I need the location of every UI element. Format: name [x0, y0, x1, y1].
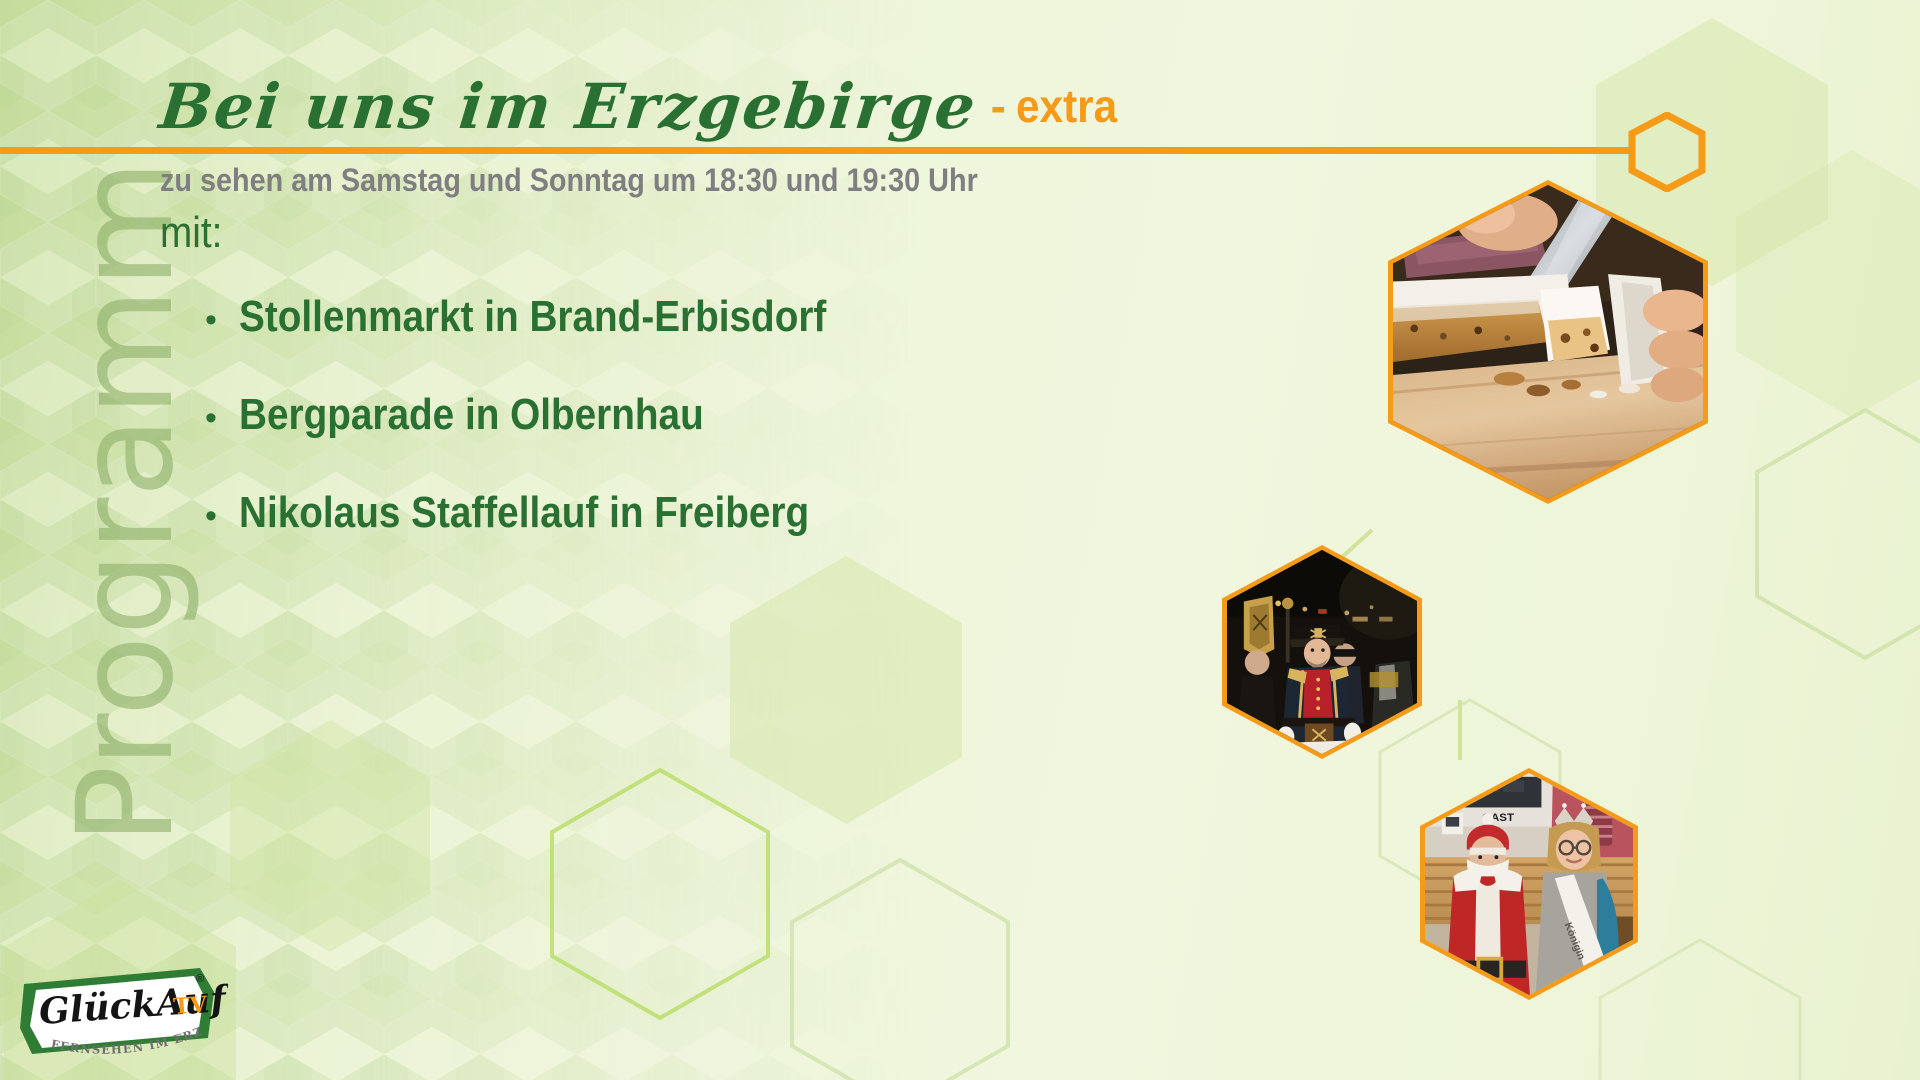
- page-title-dash: -: [991, 83, 1006, 129]
- list-item-label: Nikolaus Staffellauf in Freiberg: [239, 488, 809, 538]
- bergparade-photo: [1222, 545, 1422, 759]
- photo-hex-image: GAST: [1425, 773, 1633, 995]
- program-item-list: • Stollenmarkt in Brand-Erbisdorf • Berg…: [205, 292, 906, 586]
- list-item: • Stollenmarkt in Brand-Erbisdorf: [205, 292, 906, 342]
- orange-divider-rule: [0, 147, 1635, 154]
- page-title: Bei uns im Erzgebirge-extra: [160, 76, 1126, 138]
- broadcast-slide: Programm Bei uns im Erzgebirge-extra zu …: [0, 0, 1920, 1080]
- bullet-dot-icon: •: [205, 401, 239, 435]
- nikolaus-photo: GAST: [1420, 768, 1638, 1000]
- page-title-extra: extra: [1016, 83, 1117, 129]
- vertical-section-label: Programm: [60, 225, 220, 845]
- list-item: • Bergparade in Olbernhau: [205, 390, 906, 440]
- list-item: • Nikolaus Staffellauf in Freiberg: [205, 488, 906, 538]
- logo-tv-text: TV: [173, 992, 209, 1020]
- page-title-main: Bei uns im Erzgebirge: [157, 76, 980, 138]
- glueckauf-tv-logo: GlückAuf! TV ® FERNSEHEN IM ERZGEBIRGE: [18, 962, 228, 1070]
- photo-hex-image: [1393, 185, 1703, 499]
- list-intro-label: mit:: [160, 208, 222, 258]
- list-item-label: Bergparade in Olbernhau: [239, 390, 704, 440]
- bullet-dot-icon: •: [205, 499, 239, 533]
- broadcast-times-subtitle: zu sehen am Samstag und Sonntag um 18:30…: [160, 162, 978, 199]
- list-item-label: Stollenmarkt in Brand-Erbisdorf: [239, 292, 826, 342]
- vertical-section-label-text: Programm: [60, 225, 192, 845]
- bullet-dot-icon: •: [205, 303, 239, 337]
- stollen-cutting-photo: [1388, 180, 1708, 504]
- logo-registered-mark: ®: [196, 973, 204, 985]
